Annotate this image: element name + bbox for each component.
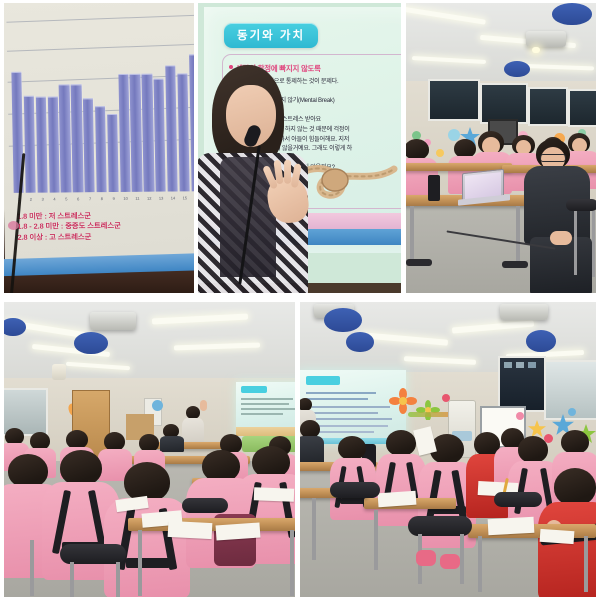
chart-x-tick: 13: [156, 194, 167, 204]
chart-x-tick: 5: [61, 194, 72, 204]
window: [498, 356, 546, 412]
handout-paper: [488, 517, 535, 535]
chart-x-tick: 2: [26, 195, 37, 205]
chair-back: [60, 544, 126, 564]
chart-bar: [36, 97, 48, 193]
wall-decoration: [516, 412, 524, 420]
man-in-suit: [526, 139, 596, 293]
wall-lamp: [52, 364, 66, 380]
desk-leg: [290, 530, 294, 596]
chart-bar: [130, 74, 143, 192]
chart-x-tick: 15: [180, 193, 191, 203]
ceiling-air-vent: [552, 3, 592, 25]
chart-legend: 1.8 미만 : 저 스트레스군 1.8 - 2.8 미만 : 중증도 스트레스…: [17, 210, 121, 242]
chair-leg: [70, 562, 74, 597]
chair-leg: [574, 211, 577, 275]
photo-classroom-audience-side-view: [406, 3, 596, 293]
handout-paper: [378, 491, 417, 508]
slide-title: 동기와 가치: [224, 23, 318, 48]
chart-x-axis-labels: 12345678910111213141516: [14, 193, 194, 205]
desk-caster: [406, 259, 432, 266]
desk-caster: [502, 261, 528, 268]
speaker-box: [428, 175, 440, 201]
handout-paper: [168, 521, 213, 539]
chart-x-tick: 7: [85, 194, 96, 204]
photo-classroom-rear-view-wide: [4, 302, 295, 597]
chart-bar: [165, 66, 178, 192]
chair-leg: [460, 534, 464, 584]
chart-x-tick: 4: [49, 194, 60, 204]
chart-x-tick: 10: [120, 194, 131, 204]
desk-leg: [516, 206, 520, 262]
desk-leg: [138, 530, 142, 596]
chart-bar: [95, 106, 107, 192]
wall-decoration: [568, 408, 576, 416]
window: [528, 87, 568, 126]
ceiling: [4, 302, 295, 378]
projector-lamp: [532, 47, 540, 53]
chair-leg: [592, 211, 595, 277]
chart-bar: [24, 96, 36, 193]
chair-back: [408, 516, 472, 536]
chart-bar: [83, 98, 95, 192]
legend-line-high: 2.8 이상 : 고 스트레스군: [17, 231, 121, 242]
chart-bar: [154, 79, 167, 192]
pink-shoe: [416, 550, 436, 566]
pink-shoe: [440, 554, 460, 569]
ceiling-air-vent: [324, 308, 362, 332]
chart-bar: [177, 73, 190, 191]
chair-back: [330, 482, 380, 498]
window: [428, 79, 480, 121]
eyeglasses-icon: [540, 154, 566, 162]
ceiling-air-vent: [74, 332, 108, 354]
chart-bar: [59, 85, 71, 193]
desk-leg: [30, 540, 34, 596]
chair-back: [182, 498, 228, 513]
presenter-figure: [198, 65, 310, 293]
ceiling-air-vent: [504, 61, 530, 77]
chair-back: [566, 199, 596, 211]
chart-x-tick: 12: [144, 194, 155, 204]
chart-gridline: [6, 14, 194, 22]
ceiling-projector: [526, 31, 566, 47]
wall-decoration: [152, 400, 163, 411]
flower-decoration: [388, 388, 418, 414]
photo-projected-bar-chart-slide: 12345678910111213141516 1.8 미만 : 저 스트레스군…: [4, 3, 194, 293]
flower-decoration: [416, 400, 440, 420]
chart-bar: [118, 74, 131, 192]
photo-classroom-rear-view-screen: [300, 302, 596, 597]
desk-leg: [410, 206, 414, 260]
screen-title-bar: [241, 386, 267, 393]
chart-bar: [142, 73, 155, 191]
desk-leg: [584, 536, 588, 592]
desk-leg: [374, 510, 378, 570]
handout-paper: [540, 529, 575, 544]
chart-x-tick: 11: [132, 194, 143, 204]
chart-bar: [71, 84, 83, 192]
seated-person-front: [300, 420, 326, 464]
ceiling-projector: [90, 312, 136, 330]
chart-x-tick: 6: [73, 194, 84, 204]
chart-bar: [47, 96, 59, 192]
chart-x-tick: 8: [97, 194, 108, 204]
window: [568, 89, 596, 127]
ceiling-air-vent: [346, 332, 374, 352]
desk-leg: [312, 498, 316, 560]
chart-bars: [11, 41, 194, 193]
legend-line-mid: 1.8 - 2.8 미만 : 중증도 스트레스군: [17, 221, 121, 232]
chart-x-tick: 14: [168, 193, 179, 203]
projection-screen: [236, 382, 295, 436]
ceiling-air-vent: [526, 330, 556, 352]
slide-bar-chart: 12345678910111213141516 1.8 미만 : 저 스트레스군…: [4, 3, 194, 269]
chair-back: [494, 492, 542, 507]
handout-paper: [216, 522, 261, 540]
chart-x-tick: 16: [191, 193, 194, 203]
ceiling-projector: [500, 304, 548, 320]
pink-object: [8, 221, 19, 230]
chart-bar: [107, 114, 119, 192]
photo-presenter-with-microphone: 동기와 가치 생각의 함정에 빠지지 않도록 마음을 잘못된 방법으로 통제하는…: [198, 3, 401, 293]
chart-bar: [189, 54, 194, 191]
chart-x-tick: 3: [37, 195, 48, 205]
chart-x-tick: 9: [108, 194, 119, 204]
desk-leg: [478, 536, 482, 592]
handout-paper: [254, 487, 294, 501]
window: [480, 83, 528, 124]
chair-leg: [116, 562, 120, 597]
photo-collage: 12345678910111213141516 1.8 미만 : 저 스트레스군…: [0, 0, 600, 600]
screen-title-bar: [306, 376, 340, 385]
